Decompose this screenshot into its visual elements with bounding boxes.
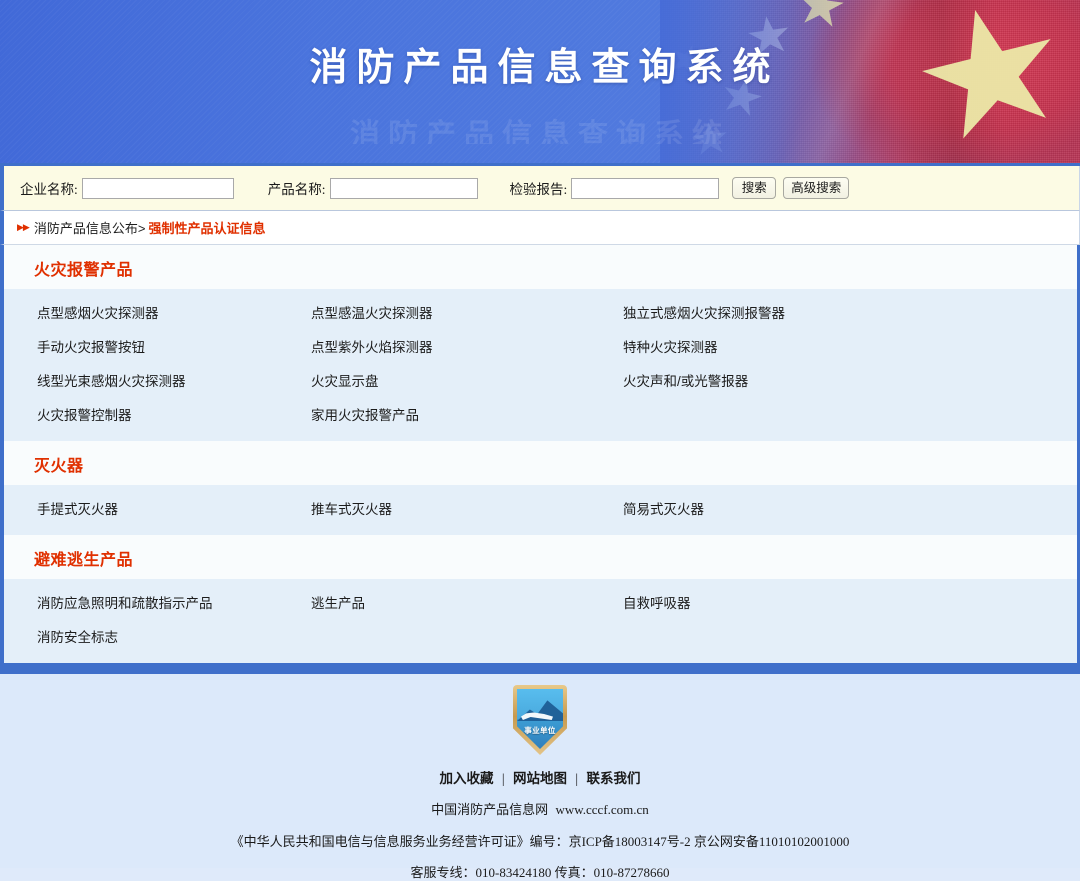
breadcrumb-arrows-icon: ▶▶: [17, 223, 29, 232]
product-cell: 手动火灾报警按钮: [4, 336, 311, 356]
category-heading: 火灾报警产品: [4, 245, 1077, 289]
footer-site-url[interactable]: www.cccf.com.cn: [555, 802, 648, 817]
product-row: 手提式灭火器推车式灭火器简易式灭火器: [4, 491, 1077, 525]
product-link[interactable]: 消防安全标志: [37, 630, 118, 645]
product-link[interactable]: 逃生产品: [311, 596, 365, 611]
product-link[interactable]: 自救呼吸器: [623, 596, 691, 611]
product-link[interactable]: 点型感烟火灾探测器: [37, 306, 159, 321]
product-cell: 消防安全标志: [4, 626, 311, 646]
product-cell: 手提式灭火器: [4, 498, 311, 518]
product-row: 线型光束感烟火灾探测器火灾显示盘火灾声和/或光警报器: [4, 363, 1077, 397]
advanced-search-button[interactable]: 高级搜索: [783, 177, 849, 199]
site-footer: 事业单位 加入收藏 | 网站地图 | 联系我们 中国消防产品信息网 www.cc…: [0, 674, 1080, 868]
footer-link-sitemap[interactable]: 网站地图: [513, 771, 567, 786]
product-cell: 点型紫外火焰探测器: [311, 336, 623, 356]
product-link[interactable]: 手动火灾报警按钮: [37, 340, 145, 355]
category-items: 消防应急照明和疏散指示产品逃生产品自救呼吸器消防安全标志: [4, 579, 1077, 663]
product-row: 点型感烟火灾探测器点型感温火灾探测器独立式感烟火灾探测报警器: [4, 295, 1077, 329]
product-link[interactable]: 消防应急照明和疏散指示产品: [37, 596, 213, 611]
product-cell: 逃生产品: [311, 592, 623, 612]
footer-link-contact[interactable]: 联系我们: [586, 771, 640, 786]
product-link[interactable]: 点型感温火灾探测器: [311, 306, 433, 321]
report-field-group: 检验报告:: [510, 178, 720, 199]
product-cell: 自救呼吸器: [623, 592, 1077, 612]
inspection-report-input[interactable]: [571, 178, 719, 199]
product-link[interactable]: 推车式灭火器: [311, 502, 392, 517]
product-row: 消防应急照明和疏散指示产品逃生产品自救呼吸器: [4, 585, 1077, 619]
product-link[interactable]: 火灾声和/或光警报器: [623, 374, 748, 389]
product-cell: 点型感烟火灾探测器: [4, 302, 311, 322]
footer-divider: [0, 663, 1080, 674]
product-cell: 线型光束感烟火灾探测器: [4, 370, 311, 390]
product-row: 火灾报警控制器家用火灾报警产品: [4, 397, 1077, 431]
product-cell: 火灾声和/或光警报器: [623, 370, 1077, 390]
product-cell: 推车式灭火器: [311, 498, 623, 518]
product-link[interactable]: 独立式感烟火灾探测报警器: [623, 306, 785, 321]
footer-link-separator: |: [575, 771, 578, 786]
shield-badge-icon: 事业单位: [513, 685, 567, 755]
product-cell: 点型感温火灾探测器: [311, 302, 623, 322]
company-name-label: 企业名称:: [20, 178, 78, 198]
search-button[interactable]: 搜索: [732, 177, 776, 199]
product-row: 消防安全标志: [4, 619, 1077, 653]
product-link[interactable]: 点型紫外火焰探测器: [311, 340, 433, 355]
product-link[interactable]: 简易式灭火器: [623, 502, 704, 517]
product-cell: 火灾显示盘: [311, 370, 623, 390]
product-field-group: 产品名称:: [268, 178, 478, 199]
company-name-input[interactable]: [82, 178, 234, 199]
category-heading: 避难逃生产品: [4, 535, 1077, 579]
product-category-list: 火灾报警产品点型感烟火灾探测器点型感温火灾探测器独立式感烟火灾探测报警器手动火灾…: [0, 245, 1080, 663]
product-link[interactable]: 手提式灭火器: [37, 502, 118, 517]
product-cell: 火灾报警控制器: [4, 404, 311, 424]
breadcrumb: ▶▶ 消防产品信息公布> 强制性产品认证信息: [0, 211, 1080, 245]
search-toolbar: 企业名称: 产品名称: 检验报告: 搜索 高级搜索: [0, 166, 1080, 211]
category-items: 点型感烟火灾探测器点型感温火灾探测器独立式感烟火灾探测报警器手动火灾报警按钮点型…: [4, 289, 1077, 441]
page-frame: 企业名称: 产品名称: 检验报告: 搜索 高级搜索 ▶▶ 消防产品信息公布> 强…: [0, 163, 1080, 663]
site-banner: 消防产品信息查询系统 消防产品信息查询系统: [0, 0, 1080, 163]
product-cell: 简易式灭火器: [623, 498, 1077, 518]
category-items: 手提式灭火器推车式灭火器简易式灭火器: [4, 485, 1077, 535]
product-cell: 家用火灾报警产品: [311, 404, 623, 424]
badge-label: 事业单位: [513, 725, 567, 736]
product-link[interactable]: 家用火灾报警产品: [311, 408, 419, 423]
product-cell: 特种火灾探测器: [623, 336, 1077, 356]
footer-links: 加入收藏 | 网站地图 | 联系我们: [0, 767, 1080, 787]
footer-site-line: 中国消防产品信息网 www.cccf.com.cn: [0, 799, 1080, 818]
product-link[interactable]: 线型光束感烟火灾探测器: [37, 374, 186, 389]
page-title: 消防产品信息查询系统: [0, 48, 1080, 90]
product-link[interactable]: 火灾报警控制器: [37, 408, 132, 423]
footer-hotline: 客服专线：010-83424180 传真：010-87278660: [0, 862, 1080, 881]
breadcrumb-parent-link[interactable]: 消防产品信息公布>: [34, 218, 146, 237]
inspection-report-label: 检验报告:: [510, 178, 568, 198]
footer-link-bookmark[interactable]: 加入收藏: [440, 771, 494, 786]
product-link[interactable]: 特种火灾探测器: [623, 340, 718, 355]
breadcrumb-current: 强制性产品认证信息: [148, 218, 265, 237]
company-field-group: 企业名称:: [20, 178, 234, 199]
footer-license: 《中华人民共和国电信与信息服务业务经营许可证》编号：京ICP备18003147号…: [0, 831, 1080, 850]
product-link[interactable]: 火灾显示盘: [311, 374, 379, 389]
banner-title-reflection: 消防产品信息查询系统: [0, 110, 1080, 144]
footer-link-separator: |: [502, 771, 505, 786]
product-row: 手动火灾报警按钮点型紫外火焰探测器特种火灾探测器: [4, 329, 1077, 363]
product-cell: 独立式感烟火灾探测报警器: [623, 302, 1077, 322]
product-cell: 消防应急照明和疏散指示产品: [4, 592, 311, 612]
product-name-input[interactable]: [330, 178, 478, 199]
footer-site-name: 中国消防产品信息网: [431, 802, 548, 817]
category-heading: 灭火器: [4, 441, 1077, 485]
product-name-label: 产品名称:: [268, 178, 326, 198]
